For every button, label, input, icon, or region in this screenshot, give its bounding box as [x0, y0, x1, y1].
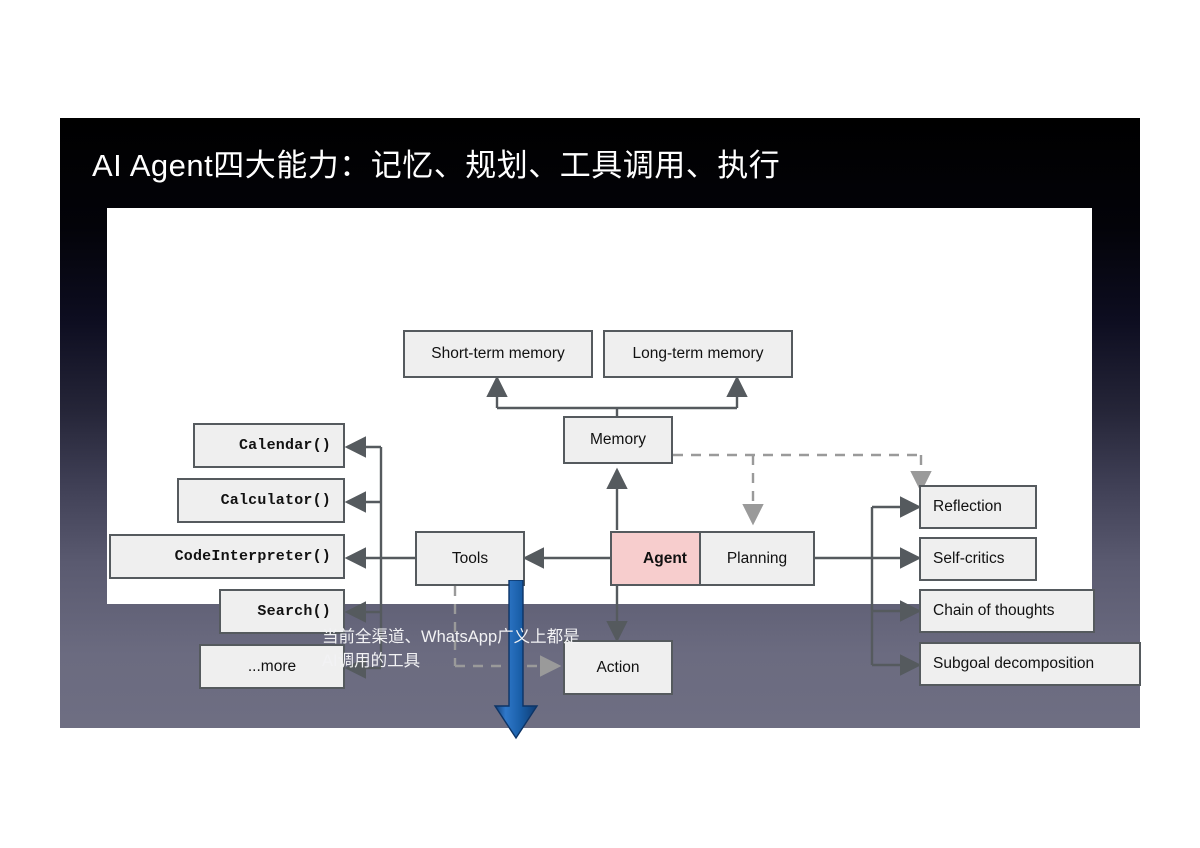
- box-label: Agent: [643, 551, 687, 567]
- box-label: Short-term memory: [431, 346, 565, 362]
- box-label: Self-critics: [933, 551, 1004, 567]
- box-plan-reflection[interactable]: Reflection: [919, 485, 1037, 529]
- box-label: Tools: [452, 551, 488, 567]
- box-label: Chain of thoughts: [933, 603, 1055, 619]
- box-plan-chain-of-thoughts[interactable]: Chain of thoughts: [919, 589, 1095, 633]
- slide-canvas: AI Agent四大能力：记忆、规划、工具调用、执行: [0, 0, 1200, 848]
- caption-line-1: 当前全渠道、WhatsApp广义上都是: [322, 626, 742, 650]
- box-tool-calendar[interactable]: Calendar(): [193, 423, 345, 468]
- box-label: Planning: [727, 551, 787, 567]
- annotation-caption: 当前全渠道、WhatsApp广义上都是 AI调用的工具: [322, 626, 742, 674]
- box-short-term-memory[interactable]: Short-term memory: [403, 330, 593, 378]
- box-label: Search(): [257, 604, 331, 619]
- box-label: Memory: [590, 432, 646, 448]
- page-title: AI Agent四大能力：记忆、规划、工具调用、执行: [92, 140, 780, 185]
- box-label: Long-term memory: [633, 346, 764, 362]
- diagram-panel: Short-term memory Long-term memory Memor…: [107, 208, 1092, 604]
- slide-frame: AI Agent四大能力：记忆、规划、工具调用、执行: [60, 118, 1140, 728]
- box-long-term-memory[interactable]: Long-term memory: [603, 330, 793, 378]
- box-label: Subgoal decomposition: [933, 656, 1094, 672]
- box-label: Calculator(): [221, 493, 331, 508]
- box-label: Reflection: [933, 499, 1002, 515]
- box-plan-subgoal-decomposition[interactable]: Subgoal decomposition: [919, 642, 1141, 686]
- caption-line-2: AI调用的工具: [322, 650, 742, 674]
- box-tool-codeinterpreter[interactable]: CodeInterpreter(): [109, 534, 345, 579]
- box-tool-calculator[interactable]: Calculator(): [177, 478, 345, 523]
- box-label: Calendar(): [239, 438, 331, 453]
- box-label: CodeInterpreter(): [175, 549, 331, 564]
- box-memory[interactable]: Memory: [563, 416, 673, 464]
- box-planning[interactable]: Planning: [699, 531, 815, 586]
- box-plan-self-critics[interactable]: Self-critics: [919, 537, 1037, 581]
- box-label: ...more: [248, 659, 296, 675]
- box-tools[interactable]: Tools: [415, 531, 525, 586]
